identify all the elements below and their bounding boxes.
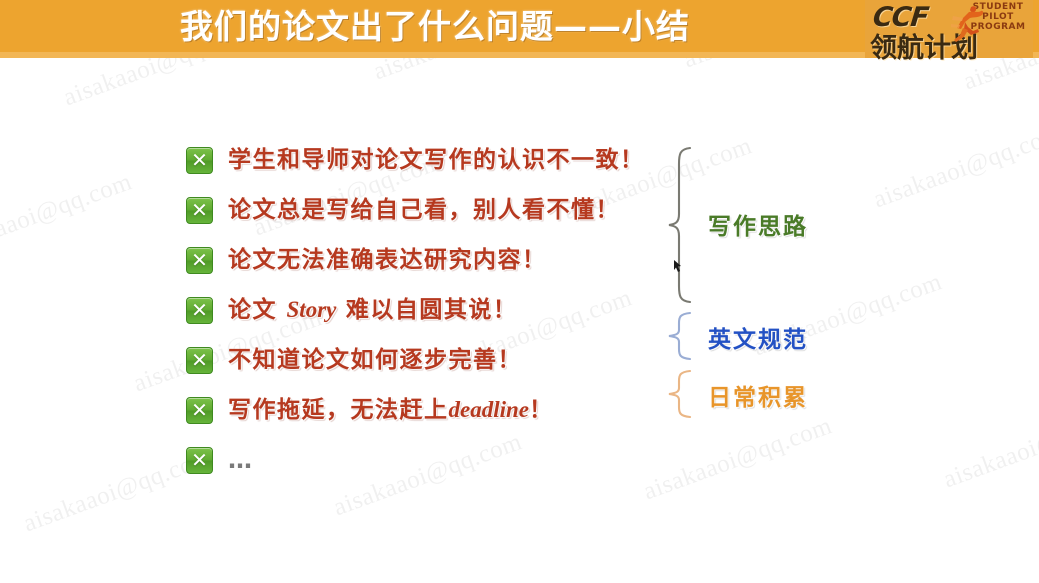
list-item-text-main: 论文总是写给自己看，别人看不懂！ xyxy=(228,197,620,223)
list-item-text-main: 论文 xyxy=(228,297,287,323)
list-item-text: … xyxy=(228,444,255,476)
x-glyph: ✕ xyxy=(187,197,212,223)
slide-canvas: aisakaaoi@qq.com aisakaaoi@qq.com aisaka… xyxy=(0,0,1039,583)
list-item-text-emphasis: Story xyxy=(287,297,337,322)
list-item-text: 论文无法准确表达研究内容！ xyxy=(228,244,547,276)
list-item-text-main: 论文无法准确表达研究内容！ xyxy=(228,247,547,273)
list-item-text-main: … xyxy=(228,446,255,474)
group-label-writing-ideas: 写作思路 xyxy=(708,207,808,241)
green-x-checkbox-icon: ✕ xyxy=(186,147,213,174)
green-x-checkbox-icon: ✕ xyxy=(186,447,213,474)
list-item-text-main: 学生和导师对论文写作的认识不一致！ xyxy=(228,147,645,173)
watermark-text: aisakaaoi@qq.com xyxy=(330,428,526,522)
green-x-checkbox-icon: ✕ xyxy=(186,247,213,274)
page-title: 我们的论文出了什么问题——小结 xyxy=(0,2,870,54)
x-glyph: ✕ xyxy=(187,397,212,423)
ccf-logo: CCF 领航计划 STUDENT PILOT PROGRAM xyxy=(865,0,1033,58)
list-item-text-suffix: ！ xyxy=(529,397,554,423)
x-glyph: ✕ xyxy=(187,447,212,473)
green-x-checkbox-icon: ✕ xyxy=(186,347,213,374)
list-item-text-main: 不知道论文如何逐步完善！ xyxy=(228,347,522,373)
x-glyph: ✕ xyxy=(187,147,212,173)
running-person-icon xyxy=(951,4,985,44)
group-brace-writing-ideas xyxy=(666,146,700,304)
green-x-checkbox-icon: ✕ xyxy=(186,197,213,224)
watermark-text: aisakaaoi@qq.com xyxy=(640,412,836,506)
watermark-layer: aisakaaoi@qq.com aisakaaoi@qq.com aisaka… xyxy=(0,0,1039,583)
list-item-text-emphasis: deadline xyxy=(449,397,530,422)
watermark-text: aisakaaoi@qq.com xyxy=(940,400,1039,494)
x-glyph: ✕ xyxy=(187,297,212,323)
watermark-text: aisakaaoi@qq.com xyxy=(0,168,136,262)
list-item-text: 写作拖延，无法赶上deadline！ xyxy=(228,394,554,426)
group-label-daily-accumulation: 日常积累 xyxy=(708,378,808,412)
group-brace-english-norms xyxy=(666,311,700,361)
list-item-text: 不知道论文如何逐步完善！ xyxy=(228,344,522,376)
green-x-checkbox-icon: ✕ xyxy=(186,297,213,324)
list-item-text: 学生和导师对论文写作的认识不一致！ xyxy=(228,144,645,176)
x-glyph: ✕ xyxy=(187,247,212,273)
group-brace-daily-accumulation xyxy=(666,369,700,419)
list-item-text-main: 写作拖延，无法赶上 xyxy=(228,397,449,423)
x-glyph: ✕ xyxy=(187,347,212,373)
list-item-text: 论文总是写给自己看，别人看不懂！ xyxy=(228,194,620,226)
watermark-text: aisakaaoi@qq.com xyxy=(870,120,1039,214)
green-x-checkbox-icon: ✕ xyxy=(186,397,213,424)
list-item-text: 论文 Story 难以自圆其说！ xyxy=(228,294,517,326)
group-label-english-norms: 英文规范 xyxy=(708,320,808,354)
list-item-text-suffix: 难以自圆其说！ xyxy=(336,297,517,323)
